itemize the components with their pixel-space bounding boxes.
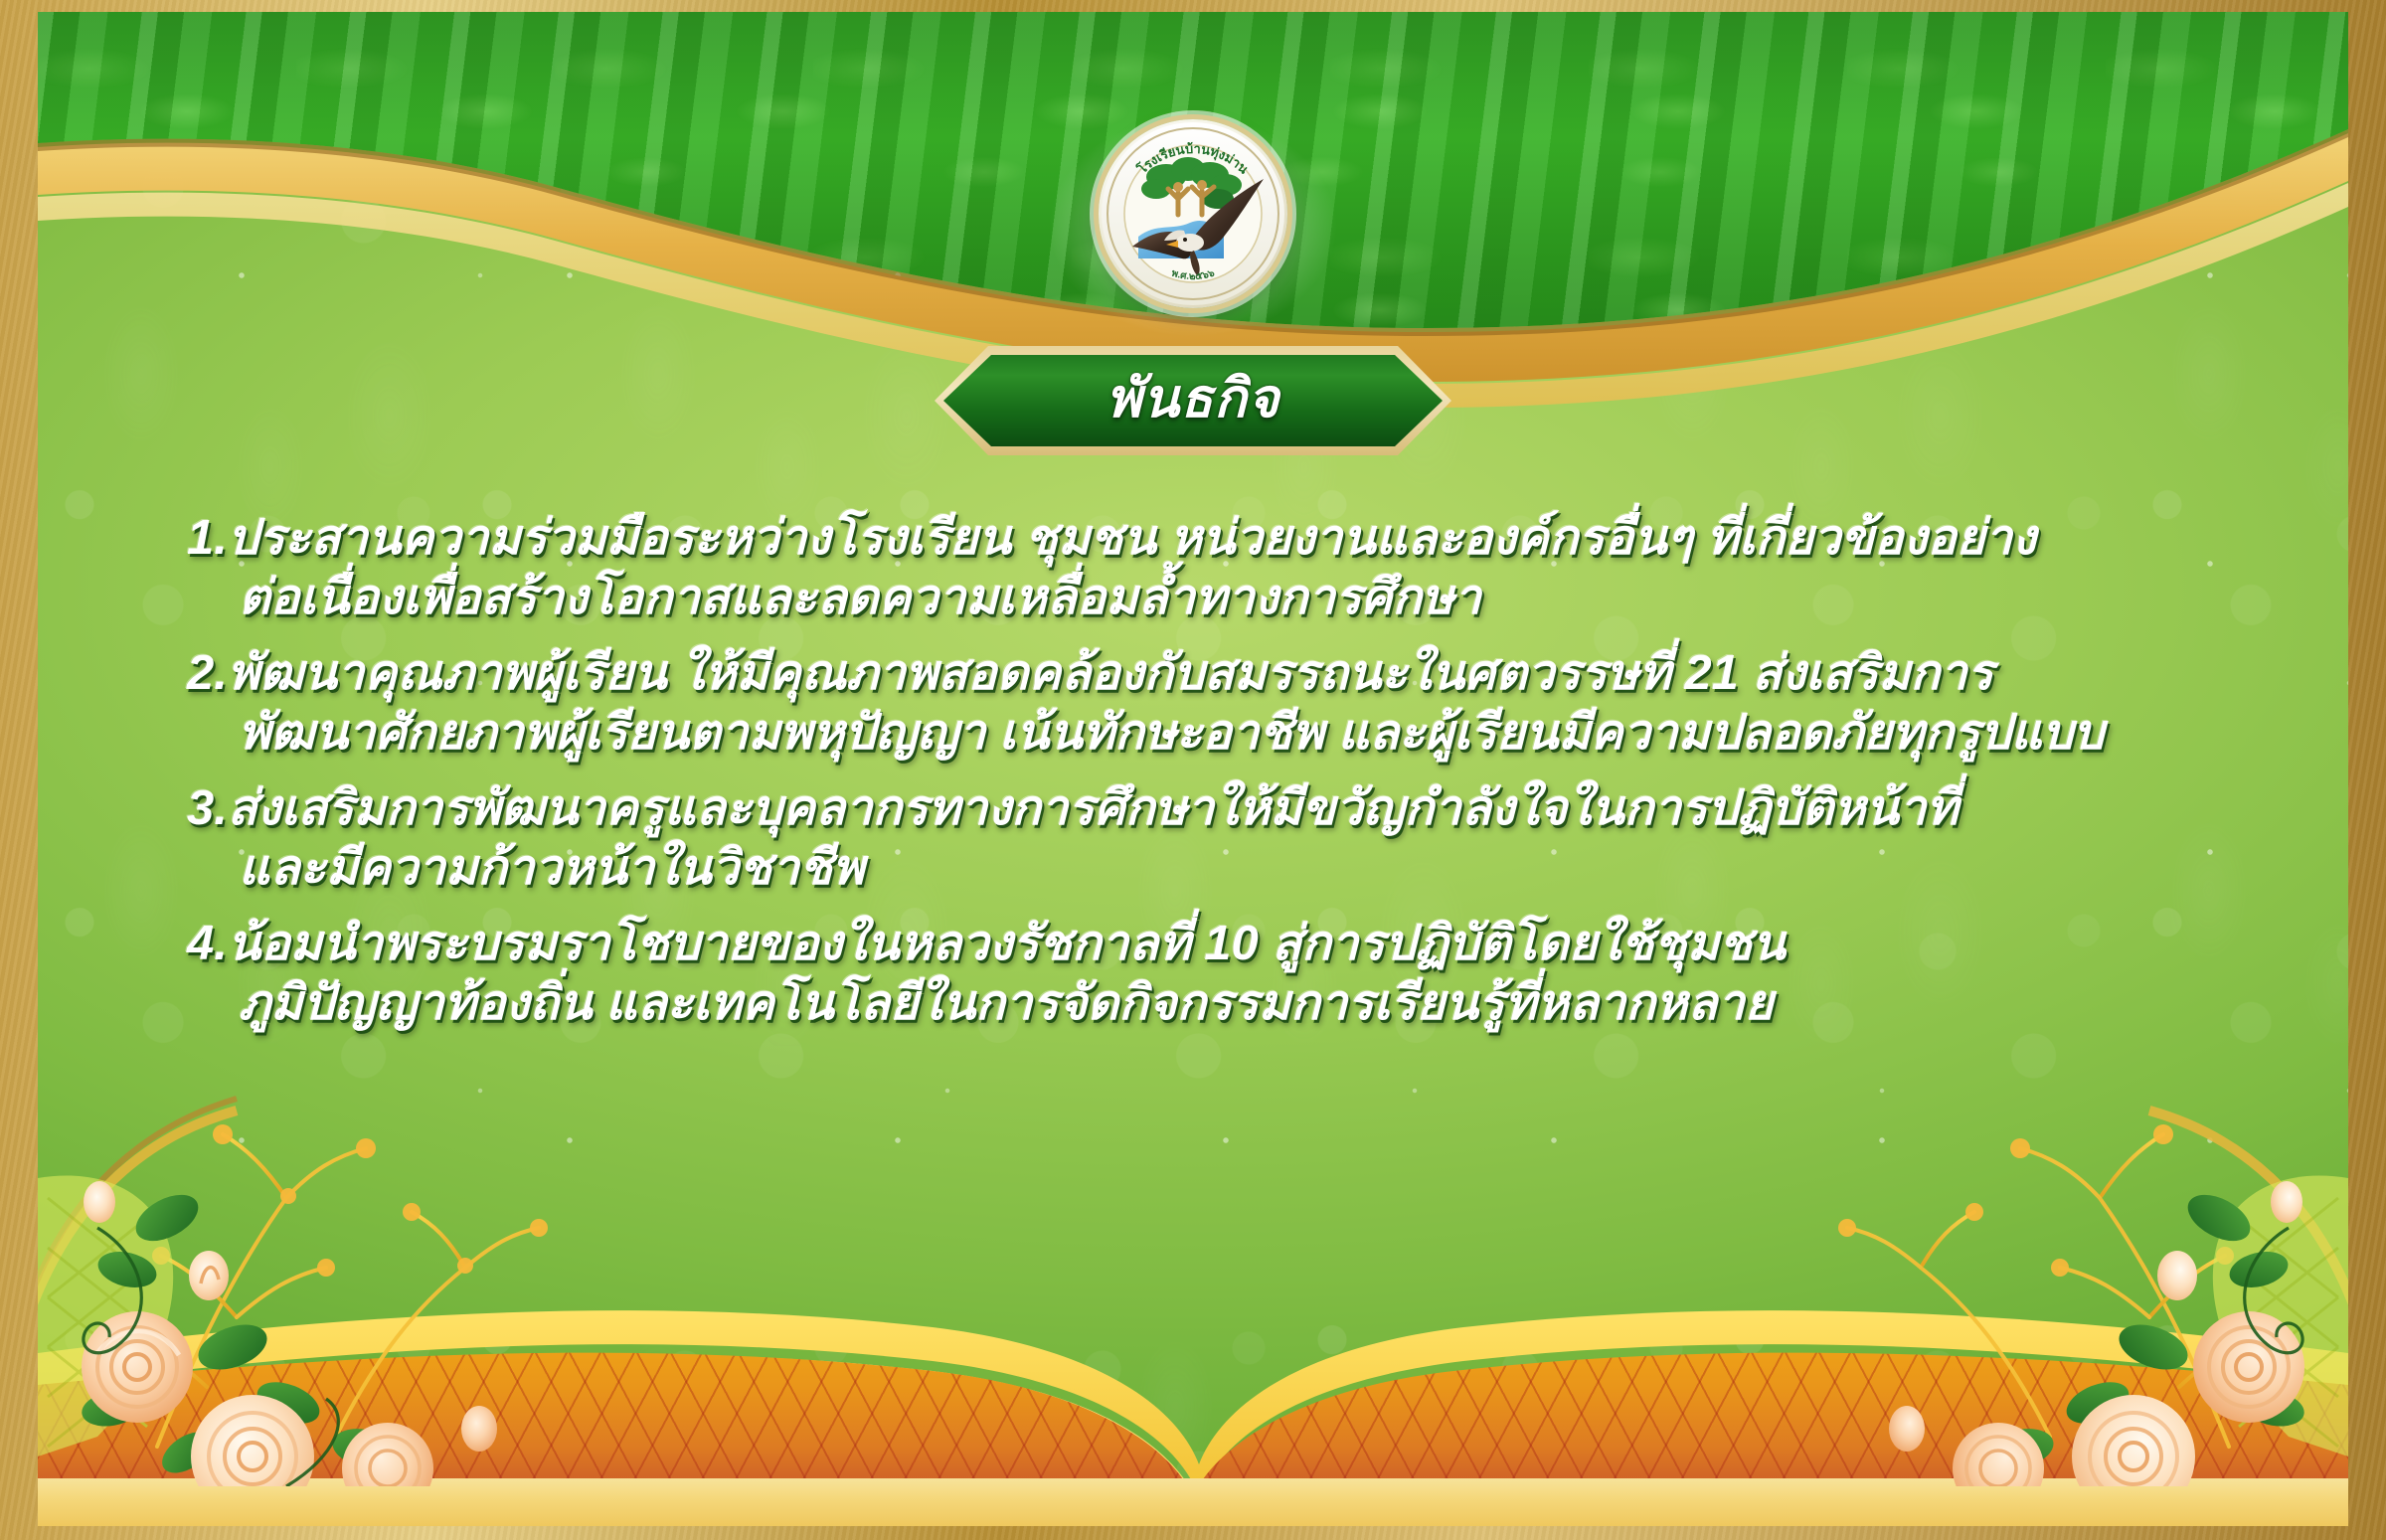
mission-item-4: 4.น้อมนำพระบรมราโชบายของในหลวงรัชกาลที่ … — [187, 915, 2229, 1034]
school-seal-art: โรงเรียนบ้านทุ่งม่าน พ.ศ.๒๕๖๖ — [1099, 119, 1287, 308]
poster-inner-card: โรงเรียนบ้านทุ่งม่าน พ.ศ.๒๕๖๖ พันธกิจ 1.… — [38, 12, 2348, 1526]
bottom-thai-border — [38, 1258, 2348, 1526]
mission-line: 4.น้อมนำพระบรมราโชบายของในหลวงรัชกาลที่ … — [187, 915, 2229, 974]
bottom-gold-base — [38, 1478, 2348, 1526]
mission-line: พัฒนาศักยภาพผู้เรียนตามพหุปัญญา เน้นทักษ… — [187, 704, 2229, 764]
mission-item-1: 1.ประสานความร่วมมือระหว่างโรงเรียน ชุมชน… — [187, 509, 2229, 628]
banner-body: พันธกิจ — [943, 355, 1443, 446]
mission-item-2: 2.พัฒนาคุณภาพผู้เรียน ให้มีคุณภาพสอดคล้อ… — [187, 644, 2229, 764]
mission-line: 3.ส่งเสริมการพัฒนาครูและบุคลากรทางการศึก… — [187, 779, 2229, 839]
poster-canvas: โรงเรียนบ้านทุ่งม่าน พ.ศ.๒๕๖๖ พันธกิจ 1.… — [0, 0, 2386, 1540]
mission-line: และมีความก้าวหน้าในวิชาชีพ — [187, 839, 2229, 899]
mission-list: 1.ประสานความร่วมมือระหว่างโรงเรียน ชุมชน… — [187, 509, 2229, 1050]
page-title: พันธกิจ — [1107, 372, 1280, 429]
mission-line: 1.ประสานความร่วมมือระหว่างโรงเรียน ชุมชน… — [187, 509, 2229, 569]
mission-item-3: 3.ส่งเสริมการพัฒนาครูและบุคลากรทางการศึก… — [187, 779, 2229, 899]
mission-line: 2.พัฒนาคุณภาพผู้เรียน ให้มีคุณภาพสอดคล้อ… — [187, 644, 2229, 704]
title-banner: พันธกิจ — [935, 346, 1451, 455]
mission-line: ต่อเนื่องเพื่อสร้างโอกาสและลดความเหลื่อม… — [187, 569, 2229, 628]
school-seal: โรงเรียนบ้านทุ่งม่าน พ.ศ.๒๕๖๖ — [1099, 119, 1287, 308]
mission-line: ภูมิปัญญาท้องถิ่น และเทคโนโลยีในการจัดกิ… — [187, 974, 2229, 1034]
